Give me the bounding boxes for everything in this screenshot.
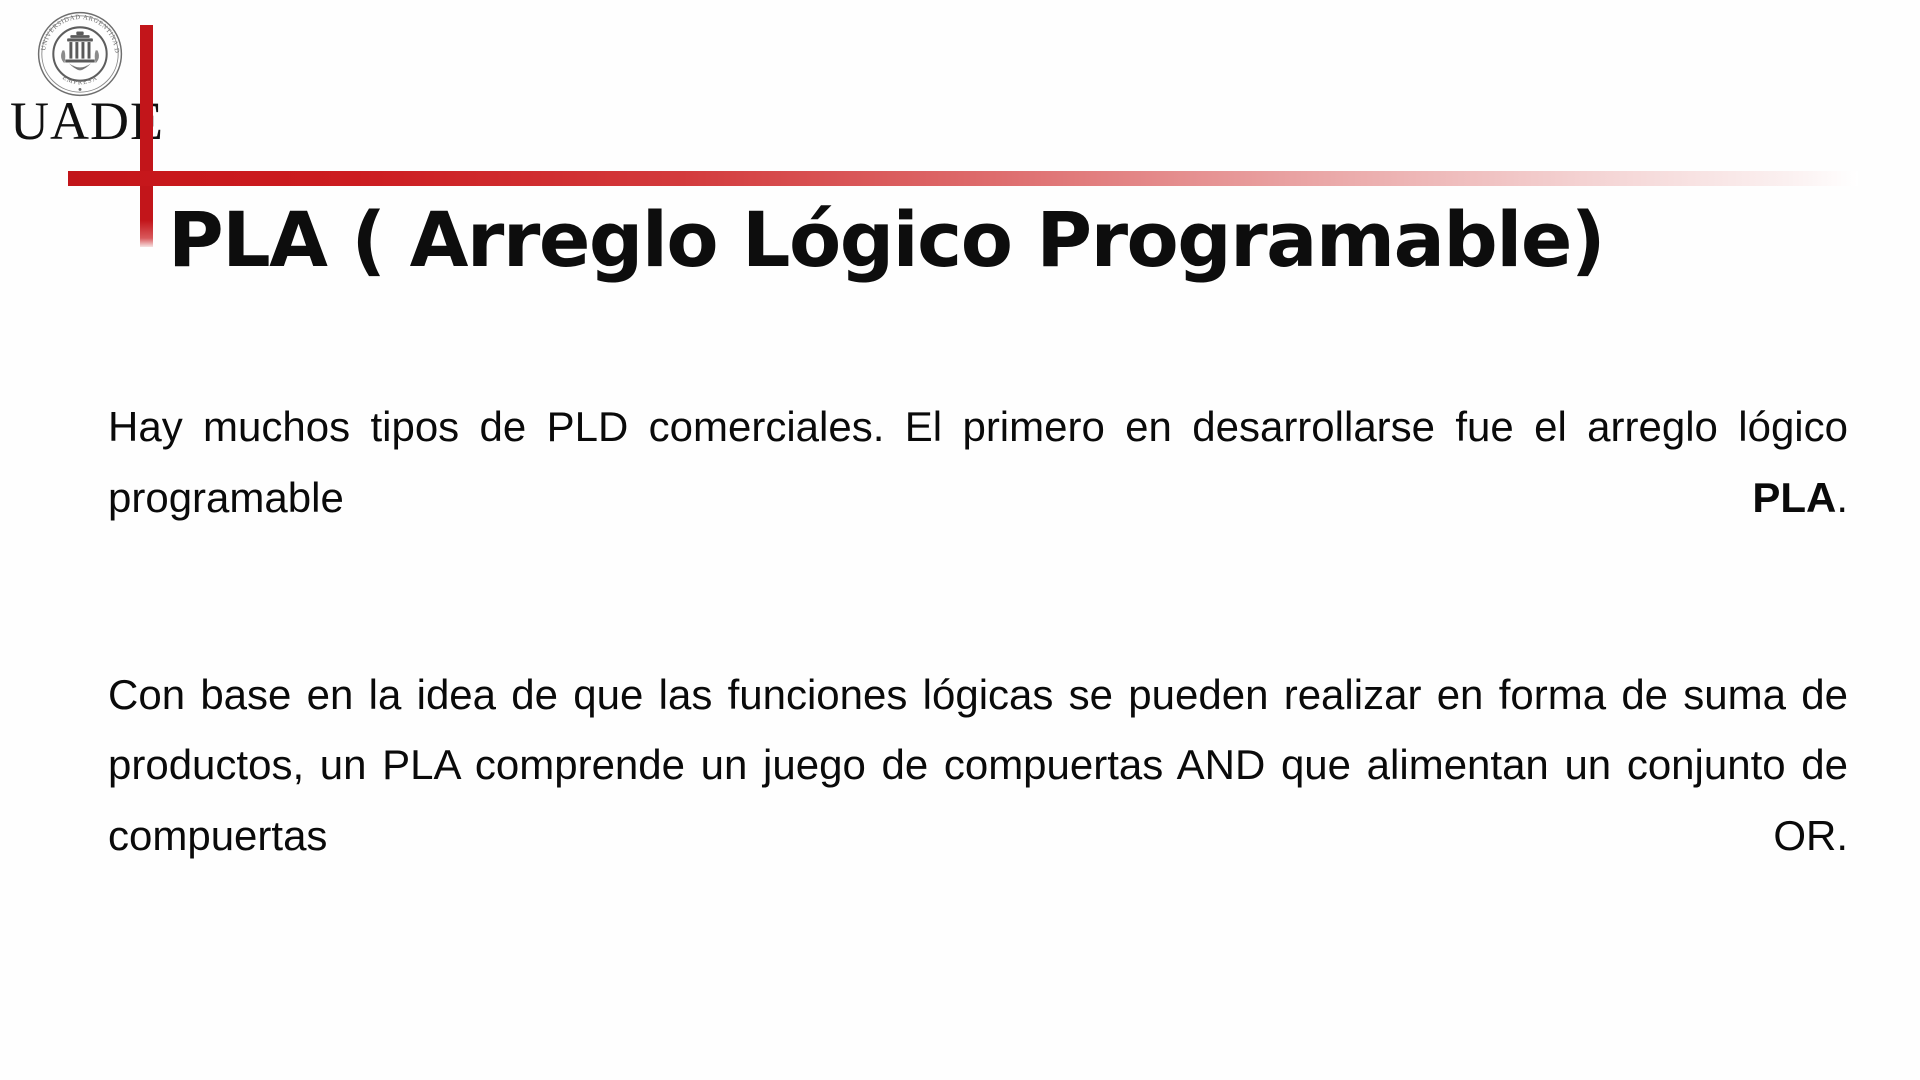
body-paragraph-2: Con base en la idea de que las funciones… — [108, 660, 1848, 942]
uade-wordmark: UADE — [10, 94, 138, 148]
accent-vertical-bar — [140, 25, 153, 247]
svg-text:EMPRESA: EMPRESA — [61, 74, 99, 86]
paragraph-2-run-1: Con base en la idea de que las funciones… — [108, 671, 1848, 859]
slide-title: PLA ( Arreglo Lógico Programable) — [168, 202, 1868, 278]
slide-body: Hay muchos tipos de PLD comerciales. El … — [108, 392, 1848, 942]
body-paragraph-1: Hay muchos tipos de PLD comerciales. El … — [108, 392, 1848, 604]
accent-horizontal-rule — [68, 171, 1858, 186]
slide-canvas: UNIVERSIDAD ARGENTINA DE LA EMPRESA — [0, 0, 1920, 1080]
uade-seal-icon: UNIVERSIDAD ARGENTINA DE LA EMPRESA — [34, 8, 126, 100]
paragraph-1-run-3: . — [1836, 474, 1848, 521]
paragraph-1-run-1: Hay muchos tipos de PLD comerciales. El … — [108, 403, 1848, 521]
brand-block: UNIVERSIDAD ARGENTINA DE LA EMPRESA — [8, 6, 140, 152]
paragraph-1-emphasis-pla: PLA — [1752, 474, 1836, 521]
